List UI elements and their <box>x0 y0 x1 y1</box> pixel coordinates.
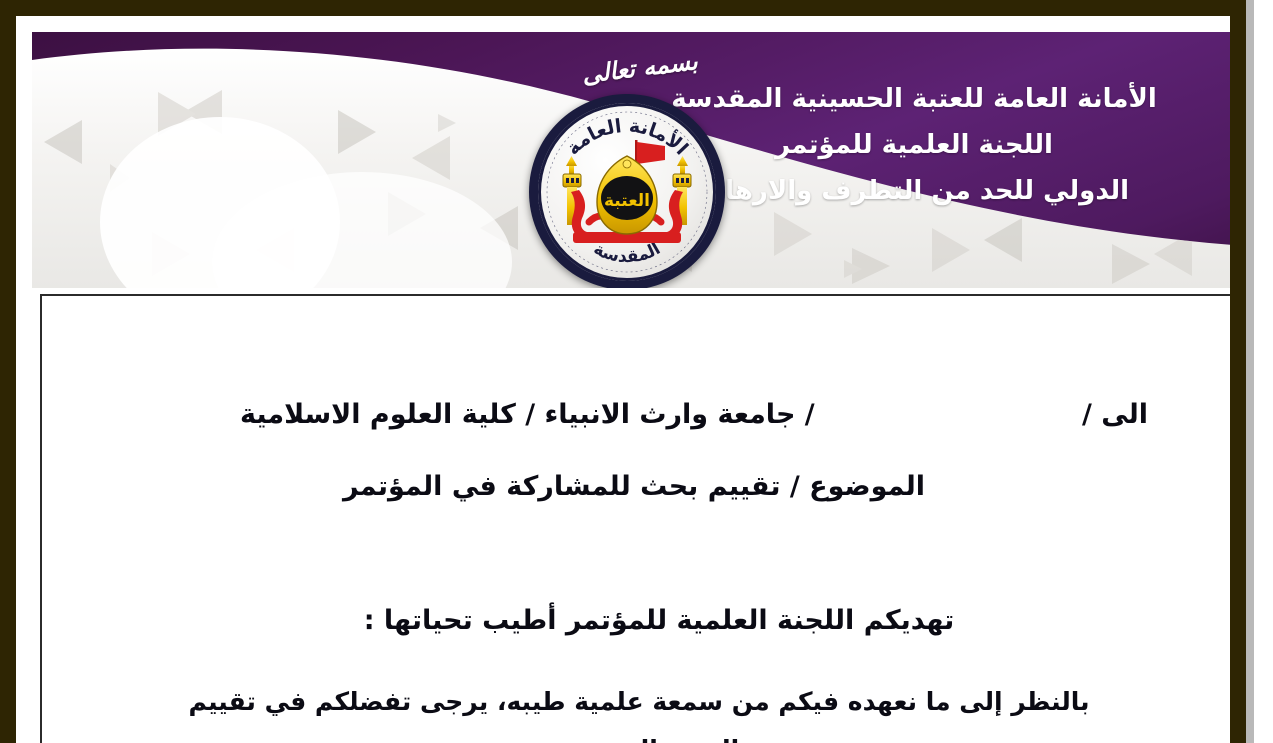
logo-golden-dome: العتبة <box>597 156 657 234</box>
frame-right-edge <box>1246 0 1254 743</box>
letterhead-frame: بسمه تعالى الأمانة العامة للعتبة الحسيني… <box>0 0 1246 743</box>
subject-line: الموضوع / تقييم بحث للمشاركة في المؤتمر <box>130 464 1148 510</box>
holy-shrine-emblem-logo: الأمانة العامة المقدسة <box>529 94 725 288</box>
letterhead-header: بسمه تعالى الأمانة العامة للعتبة الحسيني… <box>32 32 1246 288</box>
recipient-label: الى / <box>1082 392 1148 438</box>
logo-bottom-arc-label: المقدسة <box>590 239 664 267</box>
paragraph-main-text: بالنظر إلى ما نعهده فيكم من سمعة علمية ط… <box>188 687 1089 716</box>
recipient-value: / جامعة وارث الانبياء / كلية العلوم الاس… <box>130 392 815 438</box>
logo-artwork: الأمانة العامة المقدسة <box>529 94 725 288</box>
letter-body-sheet: الى / / جامعة وارث الانبياء / كلية العلو… <box>40 294 1238 743</box>
logo-top-arc-label: الأمانة العامة <box>562 115 692 160</box>
page-right-margin <box>1254 0 1273 743</box>
greeting-line: تهديكم اللجنة العلمية للمؤتمر أطيب تحيات… <box>130 598 1148 644</box>
svg-text:المقدسة: المقدسة <box>590 239 664 267</box>
letter-body-content: الى / / جامعة وارث الانبياء / كلية العلو… <box>42 296 1236 743</box>
letter-page: بسمه تعالى الأمانة العامة للعتبة الحسيني… <box>0 0 1273 743</box>
svg-text:الأمانة العامة: الأمانة العامة <box>562 115 692 160</box>
logo-center-label: العتبة <box>604 191 650 211</box>
paragraph-last-line: البحث الموسوم: <box>130 726 1148 743</box>
letter-paragraph: بالنظر إلى ما نعهده فيكم من سمعة علمية ط… <box>130 678 1148 743</box>
recipient-row: الى / / جامعة وارث الانبياء / كلية العلو… <box>130 392 1148 438</box>
